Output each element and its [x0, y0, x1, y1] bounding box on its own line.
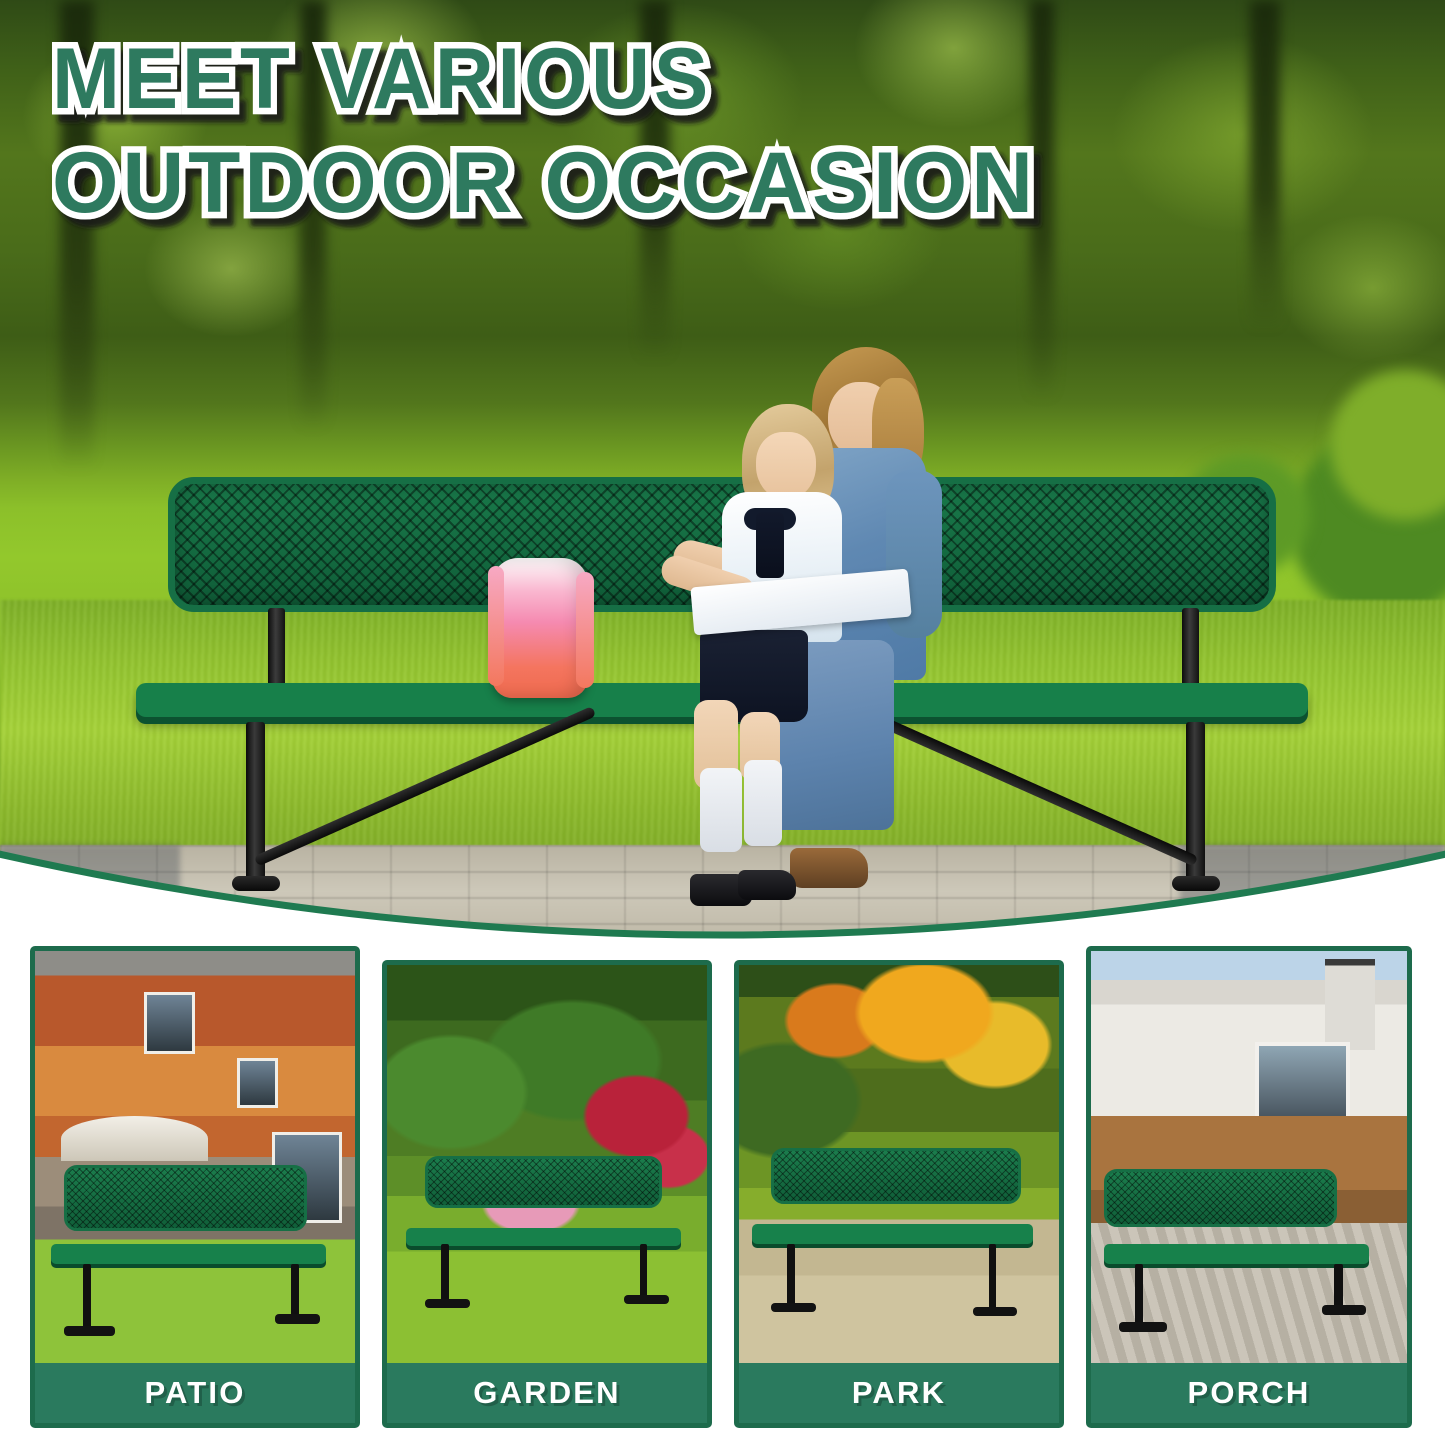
panel-park[interactable]: PARK: [734, 960, 1064, 1428]
mini-bench-foot: [973, 1307, 1018, 1316]
mini-bench-leg: [1135, 1264, 1143, 1326]
mini-bench-foot: [64, 1326, 115, 1336]
panel-label-patio: PATIO: [144, 1375, 245, 1411]
house-window: [144, 992, 195, 1054]
product-marketing-image: MEET VARIOUS OUTDOOR OCCASION: [0, 0, 1445, 1436]
panel-label-park: PARK: [852, 1375, 946, 1411]
house-window: [237, 1058, 279, 1107]
mini-bench-backrest: [425, 1156, 662, 1208]
headline-line-1: MEET VARIOUS: [52, 34, 712, 127]
panel-label-bar-park: PARK: [739, 1363, 1059, 1423]
backrest-post: [268, 608, 285, 692]
panel-garden[interactable]: GARDEN: [382, 960, 712, 1428]
panel-patio[interactable]: PATIO: [30, 946, 360, 1428]
panel-label-bar-patio: PATIO: [35, 1363, 355, 1423]
panel-label-porch: PORCH: [1188, 1375, 1311, 1411]
mini-bench-seat: [752, 1224, 1034, 1244]
mini-bench-foot: [1322, 1305, 1366, 1315]
panel-photo-patio: [35, 951, 355, 1363]
mini-bench-seat: [1104, 1244, 1369, 1265]
mini-bench-leg: [441, 1244, 449, 1304]
girl-face: [756, 432, 816, 500]
headline-block: MEET VARIOUS OUTDOOR OCCASION: [52, 34, 1112, 239]
backpack: [492, 558, 588, 698]
headline-svg: MEET VARIOUS OUTDOOR OCCASION: [52, 34, 1112, 234]
house-window: [1255, 1042, 1350, 1124]
mini-bench-leg: [787, 1244, 795, 1308]
mini-bench-leg: [989, 1244, 997, 1312]
backpack-strap: [576, 572, 594, 688]
chimney: [1325, 959, 1376, 1050]
backpack-strap: [488, 566, 504, 686]
mini-bench-seat: [406, 1228, 681, 1246]
mini-bench-leg: [291, 1264, 299, 1318]
mini-bench-leg: [83, 1264, 91, 1330]
panel-label-bar-porch: PORCH: [1091, 1363, 1407, 1423]
backrest-post: [1182, 608, 1199, 692]
panel-porch[interactable]: PORCH: [1086, 946, 1412, 1428]
mini-bench-foot: [771, 1303, 816, 1312]
mini-bench-backrest: [64, 1165, 307, 1231]
panel-label-garden: GARDEN: [473, 1375, 621, 1411]
mini-bench-backrest: [1104, 1169, 1338, 1227]
awning: [61, 1116, 208, 1161]
panel-photo-garden: [387, 965, 707, 1363]
mini-bench-seat: [51, 1244, 326, 1265]
girl-sock: [744, 760, 782, 846]
mini-bench-leg: [1334, 1264, 1342, 1309]
hero-section: MEET VARIOUS OUTDOOR OCCASION: [0, 0, 1445, 960]
headline-line-2: OUTDOOR OCCASION: [52, 135, 1037, 231]
mini-bench-backrest: [771, 1148, 1021, 1204]
mini-bench-foot: [1119, 1322, 1166, 1332]
panel-photo-porch: [1091, 951, 1407, 1363]
panel-photo-park: [739, 965, 1059, 1363]
occasion-panels: PATIO GARDEN: [0, 928, 1445, 1436]
mini-bench-foot: [425, 1299, 470, 1308]
panel-label-bar-garden: GARDEN: [387, 1363, 707, 1423]
mini-bench-foot: [275, 1314, 320, 1324]
mini-bench-leg: [640, 1244, 648, 1300]
girl-bow-tie: [756, 512, 784, 578]
mini-bench-foot: [624, 1295, 669, 1304]
